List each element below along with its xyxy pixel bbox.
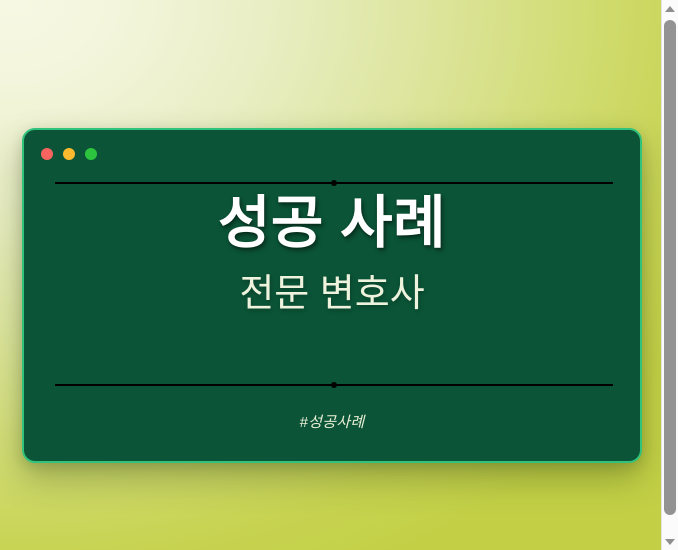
triangle-up-icon — [665, 6, 675, 12]
scroll-up-arrow-icon[interactable] — [662, 0, 678, 17]
slide-hashtag: #성공사례 — [24, 411, 640, 432]
window-controls — [41, 148, 97, 160]
minimize-dot[interactable] — [63, 148, 75, 160]
maximize-dot[interactable] — [85, 148, 97, 160]
screenshot-viewport: 성공 사례 전문 변호사 #성공사례 — [0, 0, 678, 550]
slide-text-block: 성공 사례 전문 변호사 — [24, 192, 640, 317]
divider-center-dot-top — [331, 180, 337, 186]
triangle-down-icon — [665, 539, 675, 545]
scroll-down-arrow-icon[interactable] — [662, 533, 678, 550]
scrollbar-thumb[interactable] — [664, 20, 676, 515]
divider-rule-bottom — [55, 384, 613, 386]
slide-subtitle: 전문 변호사 — [24, 272, 640, 317]
divider-center-dot-bottom — [331, 382, 337, 388]
close-dot[interactable] — [41, 148, 53, 160]
divider-rule-top — [55, 182, 613, 184]
slide-card[interactable]: 성공 사례 전문 변호사 #성공사례 — [22, 128, 642, 463]
slide-page-background: 성공 사례 전문 변호사 #성공사례 — [0, 0, 661, 550]
vertical-scrollbar[interactable] — [661, 0, 678, 550]
slide-title: 성공 사례 — [24, 192, 640, 256]
